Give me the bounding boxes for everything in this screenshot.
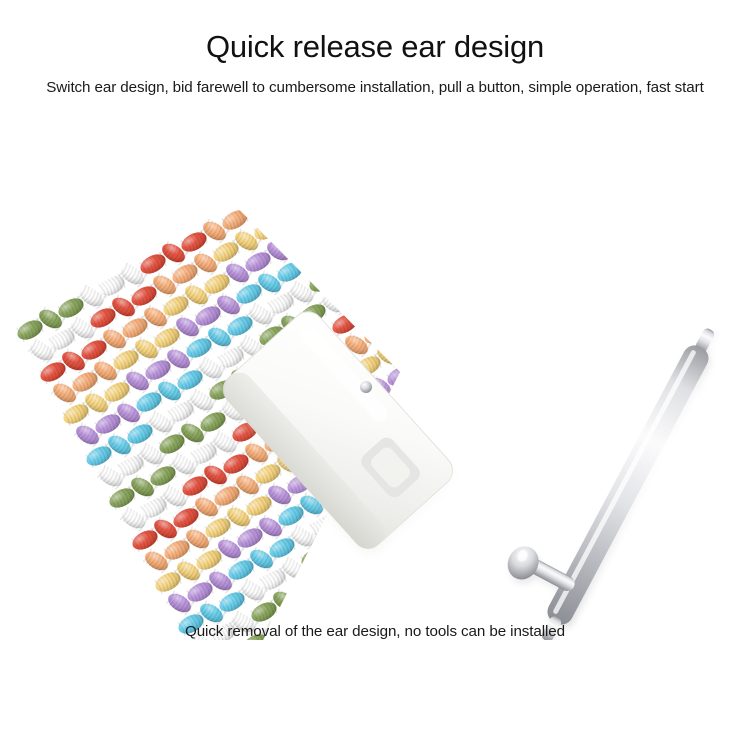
weave-bead xyxy=(452,244,484,271)
quick-release-lever-knob xyxy=(502,541,544,585)
weave-bead xyxy=(379,256,411,283)
weave-bead xyxy=(353,596,385,623)
weave-bead xyxy=(403,542,435,569)
weave-bead xyxy=(342,140,374,167)
weave-bead xyxy=(302,598,331,624)
weave-bead xyxy=(282,174,311,200)
spring-bar-highlight xyxy=(552,349,696,614)
weave-bead xyxy=(320,534,349,560)
weave-bead xyxy=(443,276,475,303)
header-text-block: Quick release ear design Switch ear desi… xyxy=(0,0,750,99)
weave-bead xyxy=(393,330,425,357)
weave-bead xyxy=(360,268,389,294)
weave-bead xyxy=(362,564,394,591)
weave-bead xyxy=(330,554,362,581)
weave-bead xyxy=(402,298,434,325)
weave-bead xyxy=(397,192,429,219)
weave-bead xyxy=(406,352,435,378)
weave-bead xyxy=(347,246,379,273)
weave-bead xyxy=(351,300,380,326)
weave-bead xyxy=(448,382,480,409)
weave-bead xyxy=(451,192,480,218)
weave-bead xyxy=(355,162,384,188)
weave-bead xyxy=(438,362,467,388)
weave-bead xyxy=(452,436,481,462)
weave-bead xyxy=(328,258,357,284)
weave-bead xyxy=(370,288,402,315)
weave-bead xyxy=(453,488,485,515)
weave-bead xyxy=(448,574,477,600)
weave-bead xyxy=(384,554,413,580)
weave-bead xyxy=(426,584,458,611)
weave-bead xyxy=(369,236,398,262)
weave-bead xyxy=(296,248,325,274)
weave-bead xyxy=(388,224,420,251)
weave-bead xyxy=(324,204,356,231)
weave-bead xyxy=(378,204,407,230)
product-photo-canvas xyxy=(0,140,750,640)
quick-release-spring-bar xyxy=(483,296,722,640)
weave-bead xyxy=(438,170,470,197)
photo-caption: Quick removal of the ear design, no tool… xyxy=(0,623,750,640)
weave-bead xyxy=(315,236,347,263)
weave-bead xyxy=(396,140,425,166)
weave-bead xyxy=(429,394,458,420)
weave-bead xyxy=(292,194,324,221)
weave-bead xyxy=(289,576,321,603)
weave-bead xyxy=(429,202,461,229)
weave-bead xyxy=(424,288,453,314)
weave-bead xyxy=(321,586,353,613)
weave-bead xyxy=(415,320,444,346)
weave-bead xyxy=(394,574,426,601)
weave-bead xyxy=(428,150,457,176)
weave-bead xyxy=(364,140,393,156)
weave-bead xyxy=(311,566,340,592)
weave-bead xyxy=(410,214,439,240)
clasp-pin-tip xyxy=(360,381,372,393)
weave-bead xyxy=(365,182,397,209)
weave-bead xyxy=(273,206,302,232)
weave-bead xyxy=(323,152,352,178)
weave-bead xyxy=(383,310,412,336)
weave-bead xyxy=(412,510,444,537)
weave-bead xyxy=(425,340,457,367)
weave-bead xyxy=(337,226,366,252)
weave-bead xyxy=(343,576,372,602)
weave-bead xyxy=(434,308,466,335)
weave-bead xyxy=(416,372,448,399)
page-title: Quick release ear design xyxy=(0,28,750,66)
weave-bead xyxy=(420,234,452,261)
weave-bead xyxy=(447,330,476,356)
weave-bead xyxy=(383,140,415,146)
product-photo xyxy=(0,140,750,640)
weave-bead xyxy=(375,586,404,612)
weave-bead xyxy=(260,184,292,211)
weave-bead xyxy=(397,384,426,410)
weave-bead xyxy=(439,414,471,441)
weave-bead xyxy=(333,172,365,199)
page-subtitle: Switch ear design, bid farewell to cumbe… xyxy=(25,76,725,100)
weave-bead xyxy=(407,596,436,622)
weave-bead xyxy=(346,194,375,220)
weave-bead xyxy=(419,182,448,208)
weave-bead xyxy=(434,500,463,526)
weave-bead xyxy=(444,520,476,547)
weave-bead xyxy=(283,226,315,253)
weave-bead xyxy=(314,184,343,210)
weave-bead xyxy=(387,172,416,198)
weave-bead xyxy=(356,214,388,241)
weave-bead xyxy=(416,564,445,590)
weave-bead xyxy=(338,278,370,305)
weave-bead xyxy=(442,224,471,250)
weave-bead xyxy=(374,150,406,177)
weave-bead xyxy=(392,278,421,304)
weave-bead xyxy=(433,256,462,282)
weave-bead xyxy=(425,532,454,558)
weave-bead xyxy=(411,266,443,293)
weave-bead xyxy=(447,140,479,166)
weave-bead xyxy=(401,246,430,272)
weave-bead xyxy=(305,216,334,242)
product-feature-image: Quick release ear design Switch ear desi… xyxy=(0,0,750,750)
weave-bead xyxy=(435,552,467,579)
weave-bead xyxy=(406,160,438,187)
weave-bead xyxy=(415,140,447,156)
weave-bead xyxy=(301,162,333,189)
weave-bead xyxy=(437,140,466,144)
